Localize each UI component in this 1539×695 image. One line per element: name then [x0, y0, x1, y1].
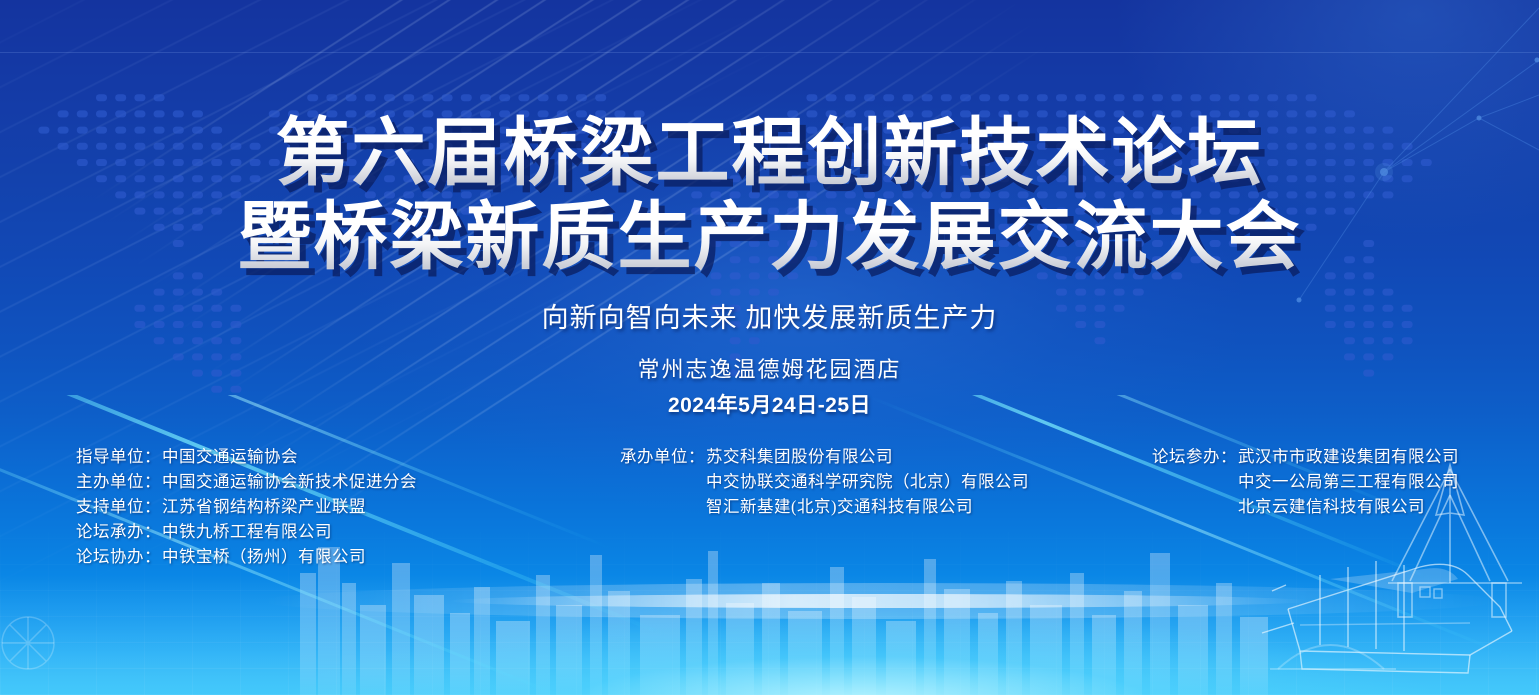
org-row: 论坛协办： 中铁宝桥（扬州）有限公司: [76, 544, 417, 569]
main-title-line-2: 暨桥梁新质生产力发展交流大会: [0, 196, 1539, 280]
org-row: 主办单位： 中国交通运输协会新技术促进分会: [76, 469, 417, 494]
organizations-left-column: 指导单位： 中国交通运输协会 主办单位： 中国交通运输协会新技术促进分会 支持单…: [76, 444, 417, 569]
org-value: 苏交科集团股份有限公司: [706, 444, 893, 469]
org-value: 中国交通运输协会新技术促进分会: [162, 469, 417, 494]
org-value: 武汉市市政建设集团有限公司: [1238, 444, 1459, 469]
organizations-middle-column: 承办单位： 苏交科集团股份有限公司 指导单位： 中交协联交通科学研究院（北京）有…: [620, 444, 1029, 519]
org-row: 指导单位： 智汇新基建(北京)交通科技有限公司: [620, 494, 1029, 519]
title-block: 第六届桥梁工程创新技术论坛 暨桥梁新质生产力发展交流大会: [0, 112, 1539, 280]
org-row: 论坛参办： 武汉市市政建设集团有限公司: [1152, 444, 1459, 469]
org-value: 中铁九桥工程有限公司: [162, 519, 332, 544]
org-label: 论坛承办：: [76, 519, 162, 544]
org-value: 北京云建信科技有限公司: [1238, 494, 1425, 519]
org-row: 论坛承办： 中铁九桥工程有限公司: [76, 519, 417, 544]
venue-name: 常州志逸温德姆花园酒店: [0, 352, 1539, 384]
org-value: 智汇新基建(北京)交通科技有限公司: [706, 494, 973, 519]
event-dates: 2024年5月24日-25日: [0, 389, 1539, 419]
org-row: 指导单位： 中交协联交通科学研究院（北京）有限公司: [620, 469, 1029, 494]
venue-block: 常州志逸温德姆花园酒店 2024年5月24日-25日: [0, 352, 1539, 419]
org-value: 中铁宝桥（扬州）有限公司: [162, 544, 366, 569]
org-label: 论坛参办：: [1152, 444, 1238, 469]
org-label: 主办单位：: [76, 469, 162, 494]
org-label: 承办单位：: [620, 444, 706, 469]
slogan: 向新向智向未来 加快发展新质生产力: [0, 296, 1539, 335]
organizations: 指导单位： 中国交通运输协会 主办单位： 中国交通运输协会新技术促进分会 支持单…: [0, 444, 1539, 564]
org-row: 指导单位： 中交一公局第三工程有限公司: [1152, 469, 1459, 494]
org-row: 承办单位： 苏交科集团股份有限公司: [620, 444, 1029, 469]
main-title-line-1: 第六届桥梁工程创新技术论坛: [0, 112, 1539, 196]
org-label: 支持单位：: [76, 494, 162, 519]
org-value: 中国交通运输协会: [162, 444, 298, 469]
org-row: 指导单位： 北京云建信科技有限公司: [1152, 494, 1459, 519]
organizations-right-column: 论坛参办： 武汉市市政建设集团有限公司 指导单位： 中交一公局第三工程有限公司 …: [1152, 444, 1459, 519]
org-value: 江苏省钢结构桥梁产业联盟: [162, 494, 366, 519]
org-label: 指导单位：: [76, 444, 162, 469]
org-label: 论坛协办：: [76, 544, 162, 569]
org-value: 中交一公局第三工程有限公司: [1238, 469, 1459, 494]
org-value: 中交协联交通科学研究院（北京）有限公司: [706, 469, 1029, 494]
org-row: 支持单位： 江苏省钢结构桥梁产业联盟: [76, 494, 417, 519]
org-row: 指导单位： 中国交通运输协会: [76, 444, 417, 469]
conference-banner: 第六届桥梁工程创新技术论坛 暨桥梁新质生产力发展交流大会 向新向智向未来 加快发…: [0, 0, 1539, 695]
